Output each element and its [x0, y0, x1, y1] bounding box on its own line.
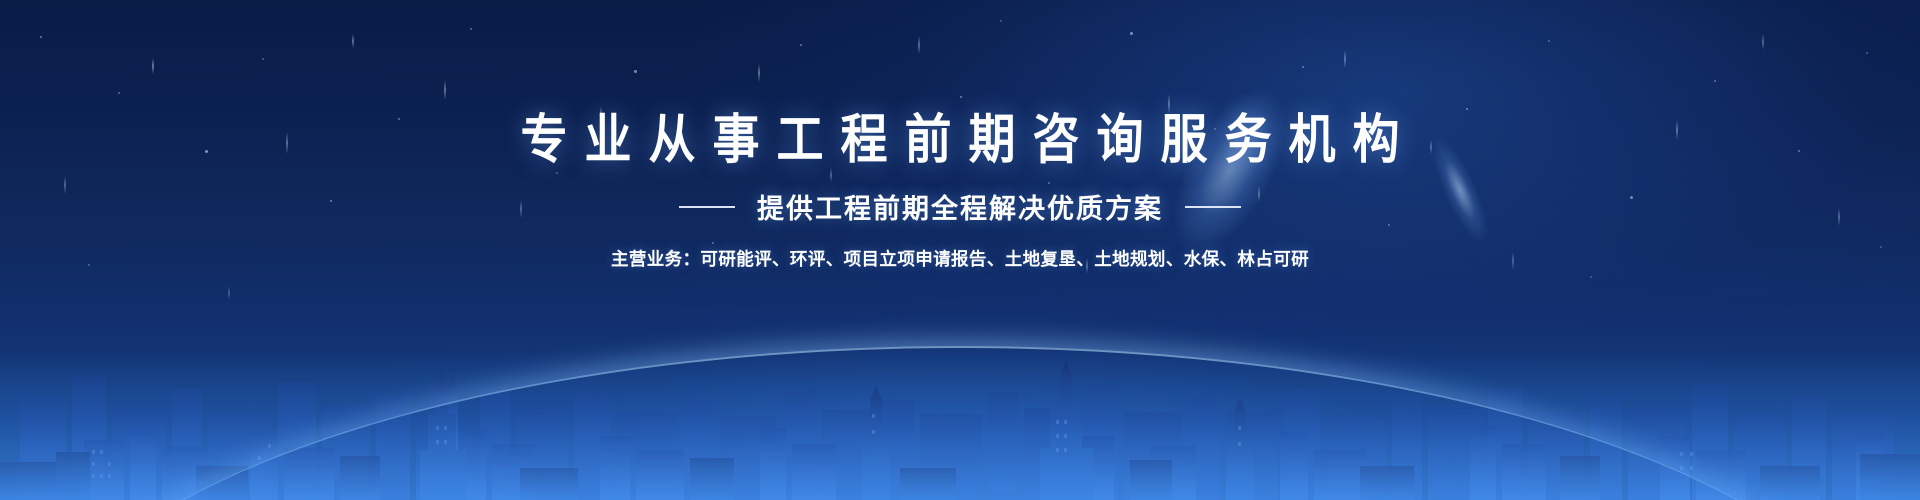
star-streak: [918, 36, 920, 54]
skyline-layer-mid: [84, 410, 1884, 500]
dash-left-icon: [679, 206, 735, 208]
star: [262, 58, 264, 60]
star: [1714, 80, 1716, 82]
star: [1130, 32, 1133, 35]
star: [960, 96, 962, 98]
banner-business-line: 主营业务：可研能评、环评、项目立项申请报告、土地复垦、土地规划、水保、林占可研: [0, 246, 1920, 271]
star: [634, 70, 637, 73]
bottom-haze: [0, 350, 1920, 500]
skyline-layer-near: [0, 452, 1920, 500]
star-streak: [1344, 50, 1346, 68]
horizon-arc: [20, 346, 1900, 500]
star-streak: [444, 80, 446, 100]
banner-subtitle: 提供工程前期全程解决优质方案: [757, 187, 1163, 226]
banner-headline: 专业从事工程前期咨询服务机构: [0, 108, 1920, 170]
building-windows: [92, 414, 1693, 478]
star-streak: [152, 58, 154, 74]
hero-banner: 专业从事工程前期咨询服务机构 提供工程前期全程解决优质方案 主营业务：可研能评、…: [0, 0, 1920, 500]
banner-content: 专业从事工程前期咨询服务机构 提供工程前期全程解决优质方案 主营业务：可研能评、…: [0, 108, 1920, 271]
star: [800, 44, 802, 46]
star: [1590, 276, 1592, 278]
star: [470, 28, 472, 30]
star: [1000, 20, 1002, 22]
skyline-landmarks: [420, 360, 1254, 500]
star-streak: [758, 64, 760, 82]
star: [40, 36, 42, 38]
dash-right-icon: [1185, 206, 1241, 208]
skyline-layer-far: [20, 376, 1894, 500]
star: [118, 92, 120, 94]
star-streak: [352, 34, 354, 48]
star: [1866, 52, 1868, 54]
star: [1302, 66, 1304, 68]
star-streak: [228, 286, 230, 300]
star-streak: [1762, 34, 1764, 50]
star: [1548, 40, 1550, 42]
horizon-glow: [0, 300, 1920, 500]
banner-subtitle-row: 提供工程前期全程解决优质方案: [0, 187, 1920, 226]
